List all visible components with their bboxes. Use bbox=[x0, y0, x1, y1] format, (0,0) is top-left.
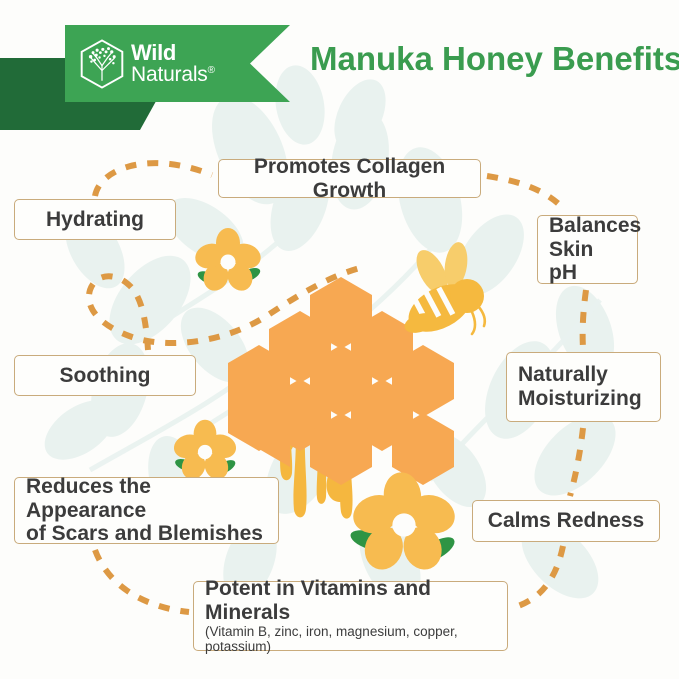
registered-mark: ® bbox=[208, 65, 215, 76]
infographic-canvas: Wild Naturals® Manuka Honey Benefits bbox=[0, 0, 679, 679]
benefit-label-vitamins-minerals[interactable]: Potent in Vitamins and Minerals (Vitamin… bbox=[193, 581, 508, 651]
comb-cell bbox=[351, 379, 413, 451]
hexagon-tree-icon bbox=[77, 38, 127, 90]
flower-icon-small-left bbox=[171, 420, 240, 483]
brand-line-two-text: Naturals bbox=[131, 63, 208, 86]
connector-collagen-balances bbox=[487, 176, 565, 210]
comb-cell bbox=[392, 413, 454, 485]
comb-cell bbox=[228, 379, 290, 451]
connector-balances-moisturizing bbox=[583, 290, 586, 348]
comb-cell bbox=[269, 379, 331, 451]
comb-cell bbox=[310, 345, 372, 417]
comb-cell bbox=[259, 413, 290, 467]
comb-cell bbox=[392, 345, 454, 417]
benefit-label-text: Soothing bbox=[26, 364, 184, 388]
benefit-label-collagen[interactable]: Promotes Collagen Growth bbox=[218, 159, 481, 198]
benefit-label-soothing[interactable]: Soothing bbox=[14, 355, 196, 396]
benefit-label-calms-redness[interactable]: Calms Redness bbox=[472, 500, 660, 542]
brand-logo[interactable]: Wild Naturals® bbox=[65, 25, 265, 102]
flower-icon-small-top bbox=[192, 228, 264, 295]
comb-cell bbox=[228, 345, 290, 417]
honey-drip bbox=[267, 414, 353, 519]
connector-scars-vitamins bbox=[95, 550, 189, 612]
benefit-label-subtext: (Vitamin B, zinc, iron, magnesium, coppe… bbox=[205, 625, 496, 655]
connector-soothing-loop bbox=[89, 268, 360, 350]
benefit-label-text: Reduces the Appearance of Scars and Blem… bbox=[26, 475, 267, 546]
connector-redness-vitamins bbox=[512, 546, 563, 608]
bee-icon bbox=[401, 241, 485, 342]
connector-hydrating-collagen bbox=[95, 163, 212, 196]
comb-cell bbox=[351, 311, 413, 383]
honeycomb bbox=[228, 277, 454, 485]
flower-icon-large-bottom bbox=[348, 470, 460, 575]
brand-line-two: Naturals® bbox=[131, 64, 215, 85]
benefit-label-text: Promotes Collagen Growth bbox=[230, 155, 469, 202]
benefit-label-text: Balances Skin pH bbox=[549, 214, 626, 285]
page-title: Manuka Honey Benefits bbox=[310, 40, 679, 78]
comb-cell bbox=[269, 311, 331, 383]
brand-wordmark: Wild Naturals® bbox=[131, 42, 215, 85]
comb-cell bbox=[310, 413, 372, 485]
benefit-label-balances-skin-ph[interactable]: Balances Skin pH bbox=[537, 215, 638, 284]
benefit-label-text: Calms Redness bbox=[484, 509, 648, 533]
benefit-label-reduces-scars[interactable]: Reduces the Appearance of Scars and Blem… bbox=[14, 477, 279, 544]
benefit-label-text: Naturally Moisturizing bbox=[518, 363, 649, 410]
connector-moisturizing-redness bbox=[570, 428, 583, 496]
benefit-label-text: Potent in Vitamins and Minerals bbox=[205, 577, 496, 624]
benefit-label-hydrating[interactable]: Hydrating bbox=[14, 199, 176, 240]
header-bar: Wild Naturals® Manuka Honey Benefits bbox=[0, 0, 679, 120]
benefit-label-text: Hydrating bbox=[26, 208, 164, 232]
comb-cell bbox=[310, 277, 372, 349]
brand-line-one: Wild bbox=[131, 42, 215, 64]
benefit-label-naturally-moisturizing[interactable]: Naturally Moisturizing bbox=[506, 352, 661, 422]
